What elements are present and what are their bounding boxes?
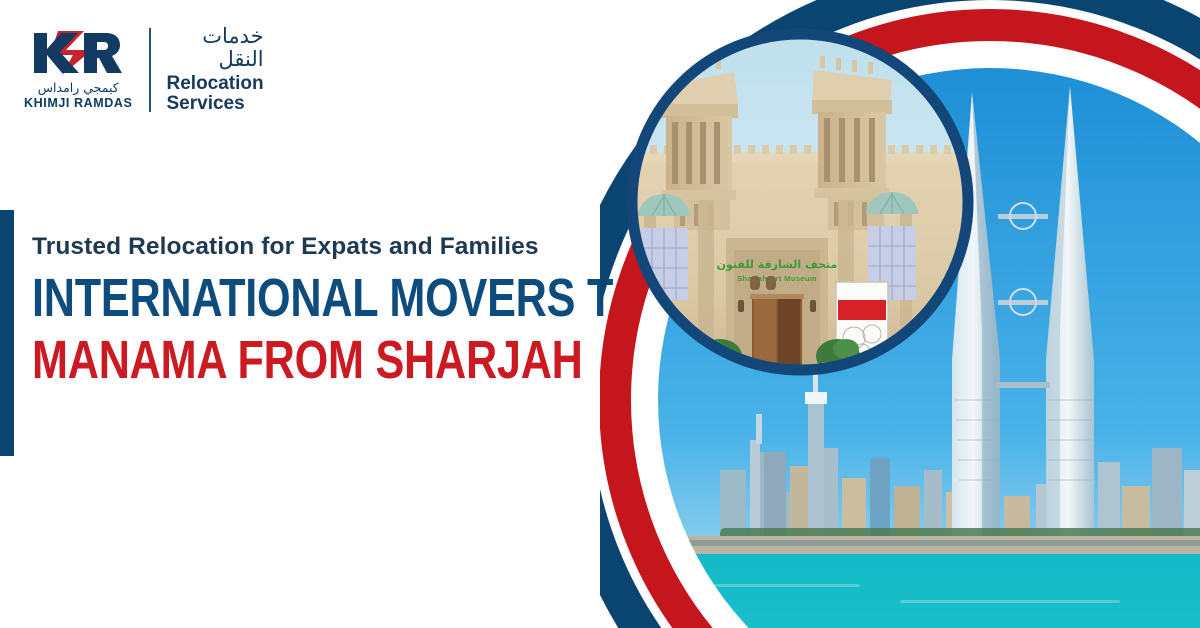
khimji-ramdas-logo[interactable]: كيمجي رامداس KHIMJI RAMDAS خدمات النقل R… bbox=[24, 24, 264, 116]
headline-line-2: MANAMA FROM SHARJAH bbox=[32, 335, 504, 387]
kr-monogram-icon bbox=[32, 29, 124, 77]
hero-graphic: متحف الشارقة للفنون Sharjah Art Museum bbox=[600, 0, 1200, 628]
logo-english-name: KHIMJI RAMDAS bbox=[24, 96, 133, 112]
logo-arabic-name: كيمجي رامداس bbox=[38, 81, 119, 95]
tagline: Trusted Relocation for Expats and Famili… bbox=[32, 232, 622, 261]
logo-service-arabic: خدمات النقل bbox=[167, 25, 264, 70]
logo-service-english: Relocation Services bbox=[167, 74, 264, 115]
headline-block: Trusted Relocation for Expats and Famili… bbox=[32, 232, 622, 387]
headline-line-1: INTERNATIONAL MOVERS TO bbox=[32, 273, 504, 325]
logo-service-block: خدمات النقل Relocation Services bbox=[167, 26, 264, 114]
svg-text:Sharjah Art Museum: Sharjah Art Museum bbox=[737, 274, 817, 283]
relocation-promo-banner: كيمجي رامداس KHIMJI RAMDAS خدمات النقل R… bbox=[0, 0, 1200, 628]
left-accent-bar bbox=[0, 210, 14, 456]
logo-divider bbox=[149, 28, 151, 112]
logo-monogram-block: كيمجي رامداس KHIMJI RAMDAS bbox=[24, 29, 147, 111]
svg-text:متحف الشارقة للفنون: متحف الشارقة للفنون bbox=[717, 258, 838, 271]
